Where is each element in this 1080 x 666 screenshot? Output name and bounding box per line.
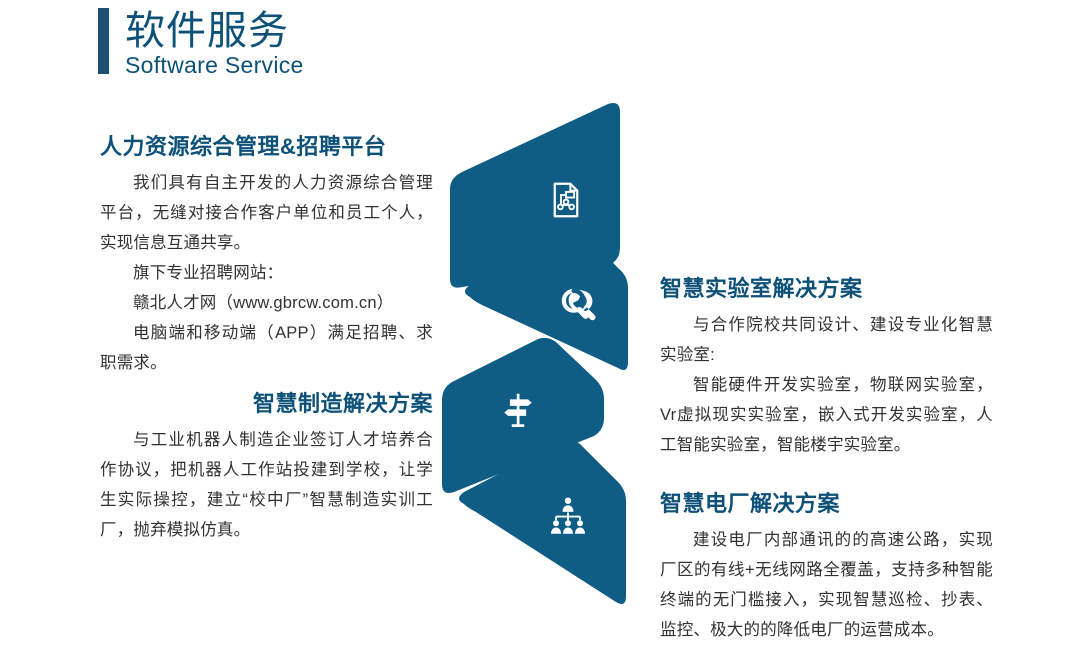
paragraph: 我们具有自主开发的人力资源综合管理平台，无缝对接合作客户单位和员工个人，实现信息…: [100, 168, 433, 258]
section-smart-power-plant-body: 建设电厂内部通讯的的高速公路，实现厂区的有线+无线网路全覆盖，支持多种智能终端的…: [660, 525, 993, 645]
section-smart-manufacturing: 智慧制造解决方案 与工业机器人制造企业签订人才培养合作协议，把机器人工作站投建到…: [100, 390, 433, 545]
section-smart-power-plant: 智慧电厂解决方案 建设电厂内部通讯的的高速公路，实现厂区的有线+无线网路全覆盖，…: [660, 490, 993, 645]
section-smart-manufacturing-body: 与工业机器人制造企业签订人才培养合作协议，把机器人工作站投建到学校，让学生实际操…: [100, 425, 433, 545]
page-subtitle: Software Service: [125, 52, 304, 78]
paragraph: 与工业机器人制造企业签订人才培养合作协议，把机器人工作站投建到学校，让学生实际操…: [100, 425, 433, 545]
section-smart-laboratory: 智慧实验室解决方案 与合作院校共同设计、建设专业化智慧实验室: 智能硬件开发实验…: [660, 275, 993, 460]
section-hr-platform-body: 我们具有自主开发的人力资源综合管理平台，无缝对接合作客户单位和员工个人，实现信息…: [100, 168, 433, 378]
paragraph: 旗下专业招聘网站：: [100, 258, 433, 288]
section-hr-platform-title: 人力资源综合管理&招聘平台: [100, 133, 433, 161]
paragraph: 建设电厂内部通讯的的高速公路，实现厂区的有线+无线网路全覆盖，支持多种智能终端的…: [660, 525, 993, 645]
paragraph: 智能硬件开发实验室，物联网实验室，Vr虚拟现实实验室，嵌入式开发实验室，人工智能…: [660, 370, 993, 460]
paragraph: 与合作院校共同设计、建设专业化智慧实验室:: [660, 310, 993, 370]
section-smart-power-plant-title: 智慧电厂解决方案: [660, 490, 993, 518]
section-smart-laboratory-body: 与合作院校共同设计、建设专业化智慧实验室: 智能硬件开发实验室，物联网实验室，V…: [660, 310, 993, 460]
header-accent-bar: [98, 8, 109, 74]
section-hr-platform: 人力资源综合管理&招聘平台 我们具有自主开发的人力资源综合管理平台，无缝对接合作…: [100, 133, 433, 378]
paragraph: 赣北人才网（www.gbrcw.com.cn）: [100, 288, 433, 318]
page-title: 软件服务: [125, 9, 304, 53]
page-header: 软件服务 Software Service: [98, 8, 304, 78]
header-text-group: 软件服务 Software Service: [125, 8, 304, 78]
paragraph: 电脑端和移动端（APP）满足招聘、求职需求。: [100, 318, 433, 378]
zigzag-ribbon-shapes: [440, 100, 652, 612]
section-smart-laboratory-title: 智慧实验室解决方案: [660, 275, 993, 303]
section-smart-manufacturing-title: 智慧制造解决方案: [100, 390, 433, 418]
